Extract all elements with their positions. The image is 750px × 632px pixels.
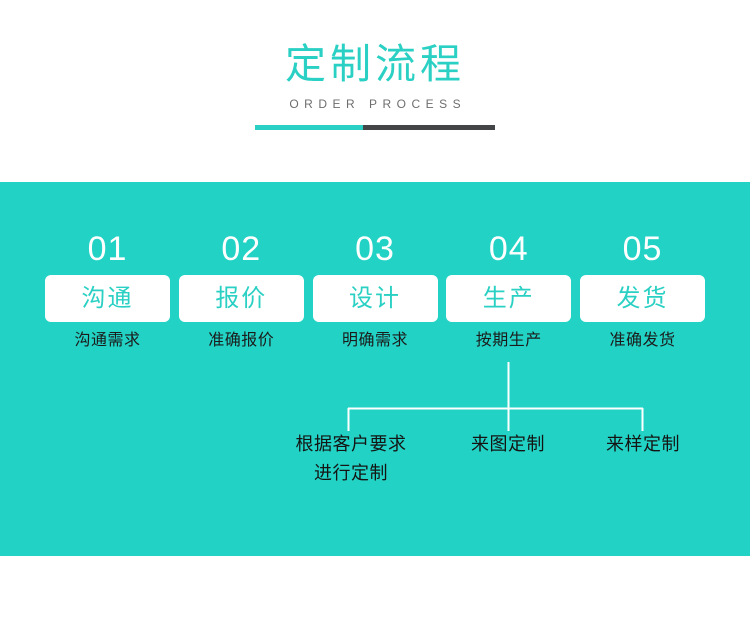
option-line-1: 来样定制	[573, 430, 713, 459]
step-card[interactable]: 生产	[446, 275, 571, 322]
step-card-label: 报价	[215, 286, 267, 312]
step-description: 沟通需求	[74, 331, 140, 351]
process-step-04: 04 生产 按期生产	[446, 230, 571, 351]
step-card-label: 发货	[617, 286, 669, 312]
process-step-05: 05 发货 准确发货	[580, 230, 705, 351]
step-card[interactable]: 发货	[580, 275, 705, 322]
option-line-1: 根据客户要求	[271, 430, 431, 459]
process-step-01: 01 沟通 沟通需求	[45, 230, 170, 351]
step-card-label: 生产	[483, 286, 535, 312]
step-number: 05	[623, 230, 663, 268]
step-card-label: 沟通	[82, 286, 134, 312]
step-number: 04	[489, 230, 529, 268]
step-number: 01	[88, 230, 128, 268]
custom-options-row: 根据客户要求 进行定制 来图定制 来样定制	[0, 430, 750, 500]
custom-option-by-drawing: 来图定制	[438, 430, 578, 459]
process-steps-row: 01 沟通 沟通需求 02 报价 准确报价 03 设计 明确需求	[45, 230, 705, 351]
step-description: 准确发货	[609, 331, 675, 351]
page-title: 定制流程	[285, 41, 465, 87]
step-card[interactable]: 报价	[179, 275, 304, 322]
page-root: 定制流程 ORDER PROCESS 01 沟通 沟通需求 02 报价 准确报价	[0, 0, 750, 632]
process-step-02: 02 报价 准确报价	[179, 230, 304, 351]
divider-segment-teal	[255, 125, 363, 130]
custom-option-by-requirement: 根据客户要求 进行定制	[271, 430, 431, 488]
step-card[interactable]: 设计	[313, 275, 438, 322]
step-description: 准确报价	[208, 331, 274, 351]
step-description: 明确需求	[342, 331, 408, 351]
process-step-03: 03 设计 明确需求	[313, 230, 438, 351]
page-header: 定制流程 ORDER PROCESS	[0, 0, 750, 182]
step-card[interactable]: 沟通	[45, 275, 170, 322]
process-band: 01 沟通 沟通需求 02 报价 准确报价 03 设计 明确需求	[0, 182, 750, 556]
step-number: 02	[221, 230, 261, 268]
option-line-1: 来图定制	[438, 430, 578, 459]
custom-option-by-sample: 来样定制	[573, 430, 713, 459]
step-card-label: 设计	[349, 286, 401, 312]
title-divider	[255, 125, 495, 130]
divider-segment-dark	[363, 125, 495, 130]
option-line-2: 进行定制	[271, 459, 431, 488]
step-number: 03	[355, 230, 395, 268]
page-subtitle: ORDER PROCESS	[284, 97, 466, 111]
step-description: 按期生产	[476, 331, 542, 351]
